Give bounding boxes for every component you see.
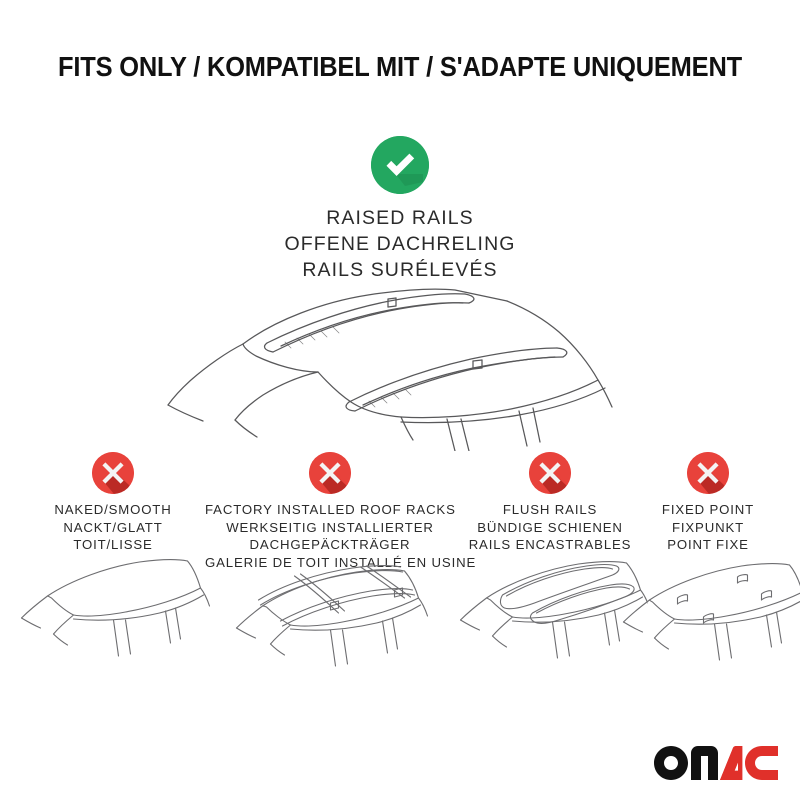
option-label-line: FACTORY INSTALLED ROOF RACKS	[205, 501, 455, 519]
option-factory-roof-racks: FACTORY INSTALLED ROOF RACKS WERKSEITIG …	[205, 452, 455, 571]
option-flush-rails-labels: FLUSH RAILS BÜNDIGE SCHIENEN RAILS ENCAS…	[450, 501, 650, 554]
primary-option-raised-rails: RAISED RAILS OFFENE DACHRELING RAILS SUR…	[0, 136, 800, 284]
x-circle-icon	[92, 452, 134, 494]
car-roof-naked-smooth-illustration	[16, 550, 211, 675]
option-label-line: BÜNDIGE SCHIENEN	[450, 519, 650, 537]
option-label-line: FIXED POINT	[638, 501, 778, 519]
x-circle-icon	[687, 452, 729, 494]
option-label-line: WERKSEITIG INSTALLIERTER	[205, 519, 455, 537]
option-label-line: FLUSH RAILS	[450, 501, 650, 519]
option-label-line: FIXPUNKT	[638, 519, 778, 537]
primary-option-labels: RAISED RAILS OFFENE DACHRELING RAILS SUR…	[0, 206, 800, 284]
car-roof-factory-roof-racks-illustration	[223, 550, 438, 685]
option-fixed-point-labels: FIXED POINT FIXPUNKT POINT FIXE	[638, 501, 778, 554]
option-label-line: NACKT/GLATT	[13, 519, 213, 537]
title-bar: FITS ONLY / KOMPATIBEL MIT / S'ADAPTE UN…	[0, 52, 800, 82]
option-naked-smooth-labels: NAKED/SMOOTH NACKT/GLATT TOIT/LISSE	[13, 501, 213, 554]
x-circle-icon	[529, 452, 571, 494]
car-roof-fixed-point-illustration	[616, 550, 800, 680]
unsupported-options-row: NAKED/SMOOTH NACKT/GLATT TOIT/LISSE	[0, 452, 800, 702]
car-roof-raised-rails-illustration	[155, 276, 645, 451]
omac-logo	[654, 746, 778, 782]
option-naked-smooth: NAKED/SMOOTH NACKT/GLATT TOIT/LISSE	[13, 452, 213, 554]
primary-label-en: RAISED RAILS	[0, 206, 800, 232]
x-circle-icon	[309, 452, 351, 494]
check-circle-icon	[371, 136, 429, 194]
option-label-line: NAKED/SMOOTH	[13, 501, 213, 519]
option-flush-rails: FLUSH RAILS BÜNDIGE SCHIENEN RAILS ENCAS…	[450, 452, 650, 554]
option-fixed-point: FIXED POINT FIXPUNKT POINT FIXE	[638, 452, 778, 554]
page-title: FITS ONLY / KOMPATIBEL MIT / S'ADAPTE UN…	[30, 52, 770, 82]
primary-label-de: OFFENE DACHRELING	[0, 232, 800, 258]
